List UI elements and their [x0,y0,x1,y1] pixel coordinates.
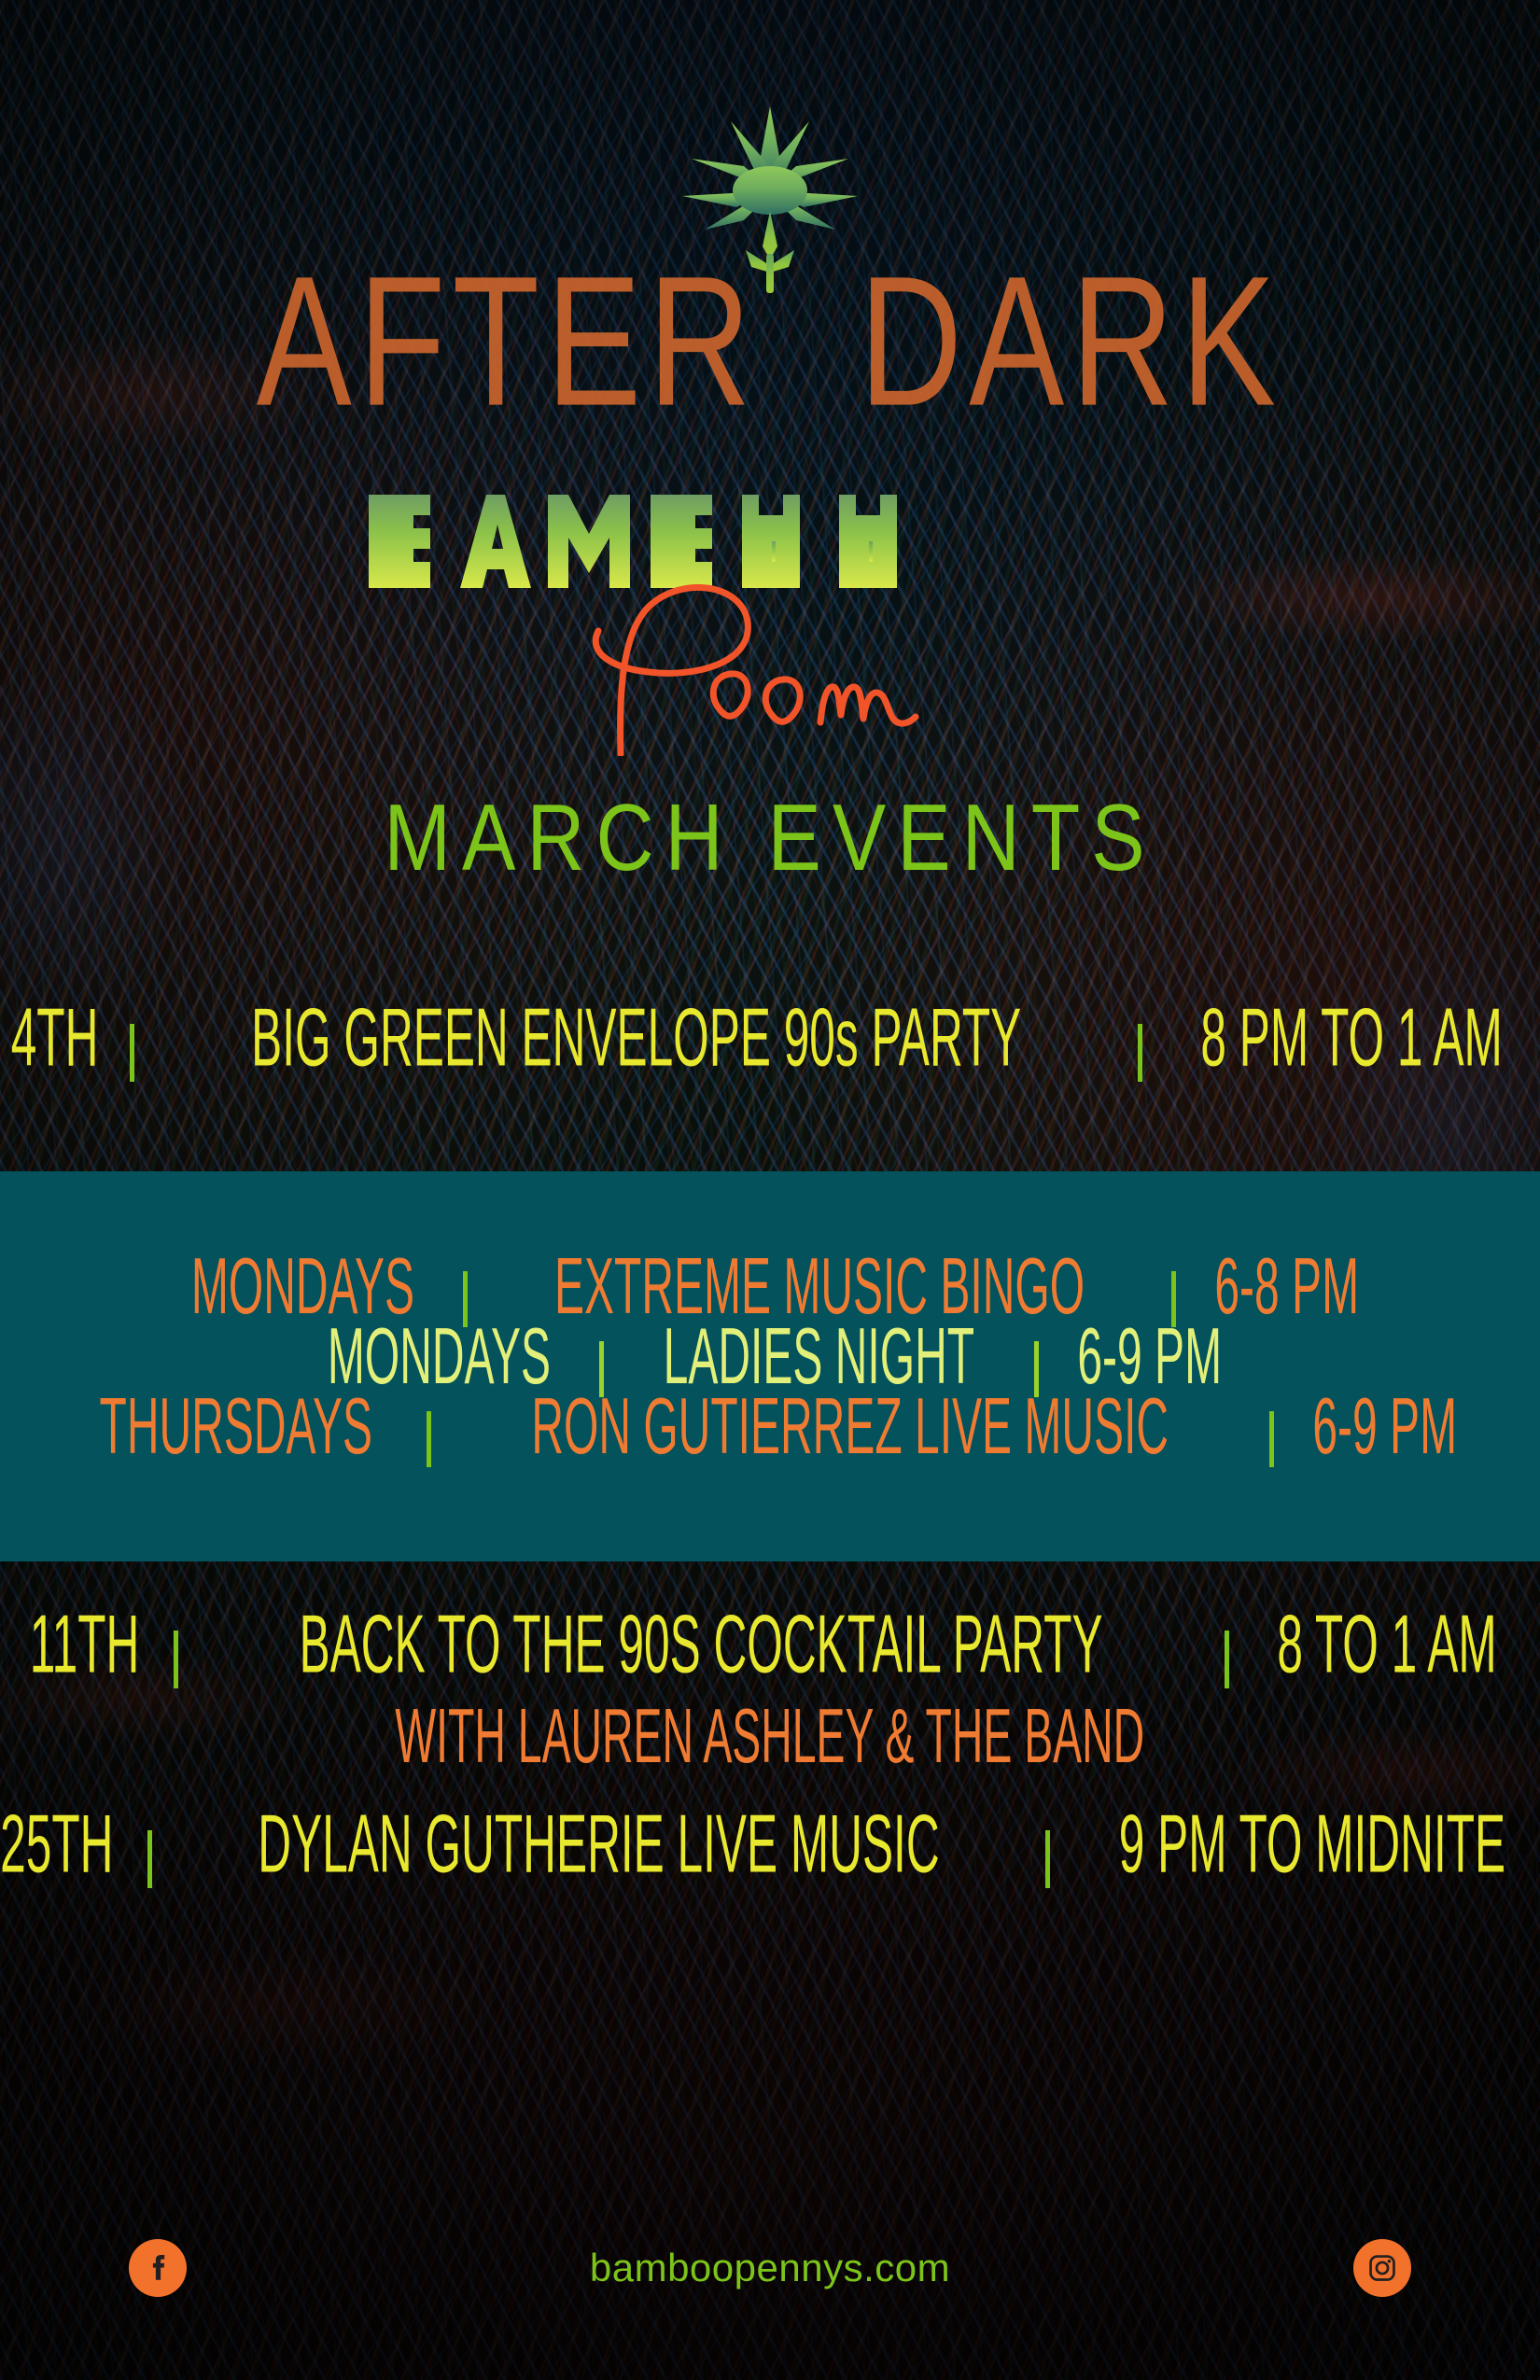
event-separator [1045,1830,1050,1888]
event-date: THURSDAYS [99,1380,371,1472]
event-time: 8 TO 1 AM [1277,1598,1496,1692]
brand-wordmark: AFTER DARK [0,276,1540,405]
event-separator [427,1411,431,1467]
wordmark-after: AFTER [257,256,758,426]
page-title: MARCH EVENTS [0,784,1540,893]
event-time: 6-9 PM [1312,1380,1457,1472]
event-separator [1225,1631,1229,1688]
event-poster: AFTER DARK [0,0,1540,2380]
website-url[interactable]: bamboopennys.com [590,2246,950,2290]
event-subline: WITH LAUREN ASHLEY & THE BAND [396,1692,1145,1781]
event-name: RON GUTIERREZ LIVE MUSIC [532,1380,1169,1472]
room-script-logo [0,579,1540,756]
event-separator [147,1830,152,1888]
event-name: BACK TO THE 90S COCKTAIL PARTY [300,1598,1103,1692]
event-name: BIG GREEN ENVELOPE 90s PARTY [251,991,1021,1085]
event-separator [130,1024,134,1082]
instagram-icon[interactable] [1353,2239,1411,2297]
event-date: 4TH [11,991,99,1085]
wordmark-dark: DARK [860,256,1283,426]
event-name: DYLAN GUTHERIE LIVE MUSIC [259,1798,940,1892]
weekly-events-list: MONDAYS EXTREME MUSIC BINGO 6-8 PM MONDA… [0,1171,1540,1561]
monthly-events-list: 11TH BACK TO THE 90S COCKTAIL PARTY 8 TO… [0,1626,1540,1892]
event-separator [174,1631,178,1688]
event-row-march-11: 11TH BACK TO THE 90S COCKTAIL PARTY 8 TO… [16,1626,1523,1692]
facebook-icon[interactable] [129,2239,187,2297]
palm-crown-icon [0,80,1540,295]
event-time: 9 PM TO MIDNITE [1119,1798,1505,1892]
event-row-thursdays-live-music: THURSDAYS RON GUTIERREZ LIVE MUSIC 6-9 P… [65,1407,1475,1472]
event-separator [1138,1024,1142,1082]
event-time: 8 PM TO 1 AM [1200,991,1502,1085]
event-date: 11TH [30,1598,140,1692]
event-separator [1269,1411,1274,1467]
event-row-march-25: 25TH DYLAN GUTHERIE LIVE MUSIC 9 PM TO M… [0,1826,1540,1892]
event-time: 6-8 PM [1214,1240,1359,1332]
event-date: 25TH [0,1798,113,1892]
event-row-march-4: 4TH BIG GREEN ENVELOPE 90s PARTY 8 PM TO… [0,1019,1540,1085]
poster-footer: bamboopennys.com [0,2212,1540,2324]
